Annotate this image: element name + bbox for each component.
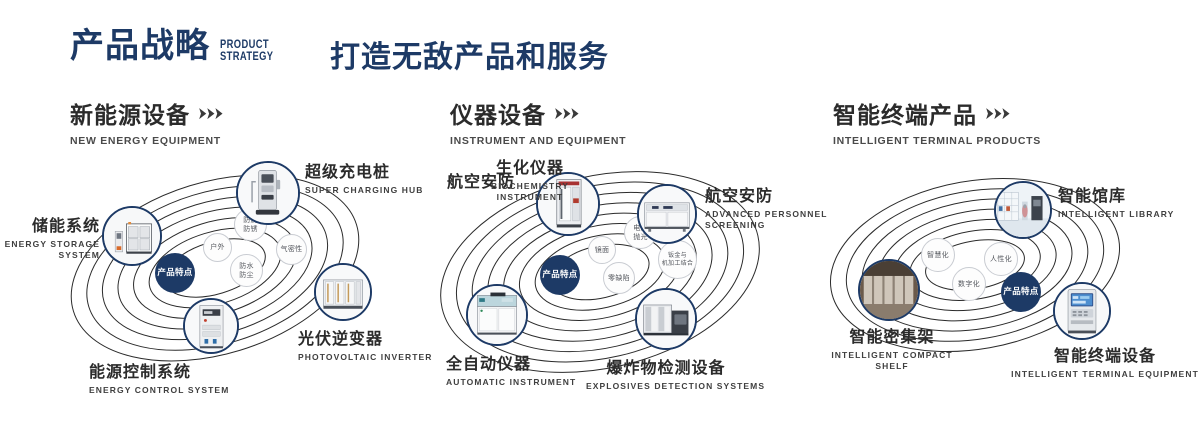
node-photovoltaic-inverter[interactable]	[314, 263, 372, 321]
brand-title: 产品战略 PRODUCT STRATEGY	[70, 26, 288, 66]
node-energy-control-system[interactable]	[183, 298, 239, 354]
node-advanced-personnel-screening[interactable]	[637, 184, 697, 244]
label-intelligent-compact-shelf: 智能密集架 INTELLIGENT COMPACT SHELF	[822, 323, 962, 371]
chevron-triple-icon: ➤➤➤	[554, 103, 578, 124]
feature-bubble-humanized: 人性化	[984, 242, 1018, 276]
energy-storage-icon	[104, 208, 160, 264]
label-automatic-instrument: 全自动仪器 AUTOMATIC INSTRUMENT	[446, 350, 576, 387]
explosives-detection-icon	[637, 290, 695, 348]
feature-bubble-label: 户外	[210, 243, 225, 252]
cluster-new-energy-equipment: 产品特点 户外 防腐 防锈 气密性 防水 防尘	[40, 150, 440, 380]
brand-title-en: PRODUCT STRATEGY	[220, 38, 273, 62]
section-heading-new-energy: 新能源设备➤➤➤ NEW ENERGY EQUIPMENT	[70, 96, 233, 147]
node-intelligent-compact-shelf[interactable]	[858, 259, 920, 321]
cluster-intelligent-terminal-products: 产品特点 智慧化 数字化 人性化	[800, 160, 1200, 395]
headline: 打造无敌产品和服务	[330, 32, 609, 76]
section-heading-cn: 新能源设备	[70, 96, 190, 130]
feature-bubble-label-line1: 钣金与	[662, 252, 694, 260]
label-en: INTELLIGENT TERMINAL EQUIPMENT	[1010, 369, 1200, 379]
automatic-instrument-icon	[468, 286, 526, 344]
label-intelligent-library: 智能馆库 INTELLIGENT LIBRARY	[1058, 182, 1174, 219]
feature-bubble-label: 镜面	[595, 246, 610, 255]
label-energy-storage: 储能系统 ENERGY STORAGE SYSTEM	[0, 212, 100, 260]
compact-shelf-icon	[860, 261, 918, 319]
feature-bubble-main-cn: 产品特点	[542, 270, 577, 280]
feature-bubble-smart: 智慧化	[921, 238, 955, 272]
feature-bubble-zerodefect: 零缺陷	[603, 262, 635, 294]
chevron-triple-icon: ➤➤➤	[198, 103, 222, 124]
screening-machine-icon	[639, 186, 695, 242]
label-energy-control-system: 能源控制系统 ENERGY CONTROL SYSTEM	[89, 358, 229, 395]
label-en-line1: BIOCHEMISTRY	[455, 181, 605, 191]
intelligent-library-icon	[996, 183, 1050, 237]
chevron-triple-icon: ➤➤➤	[985, 103, 1009, 124]
label-en: ENERGY CONTROL SYSTEM	[89, 385, 229, 395]
node-explosives-detection[interactable]	[635, 288, 697, 350]
feature-bubble-airtight: 气密性	[276, 234, 307, 265]
node-energy-storage[interactable]	[102, 206, 162, 266]
section-heading-terminal: 智能终端产品➤➤➤ INTELLIGENT TERMINAL PRODUCTS	[833, 96, 1041, 147]
feature-bubble-label: 气密性	[281, 245, 303, 254]
label-cn: 能源控制系统	[89, 358, 229, 382]
label-cn: 全自动仪器	[446, 350, 576, 374]
feature-bubble-label: 智慧化	[927, 251, 949, 260]
feature-bubble-outdoor: 户外	[203, 233, 232, 262]
section-heading-cn: 仪器设备	[450, 96, 546, 130]
label-en: AUTOMATIC INSTRUMENT	[446, 377, 576, 387]
feature-bubble-label-line2: 防尘	[239, 271, 254, 280]
section-heading-en: INSTRUMENT AND EQUIPMENT	[450, 135, 626, 147]
feature-bubble-waterproof: 防水 防尘	[230, 254, 263, 287]
feature-bubble-main-cn: 产品特点	[157, 268, 192, 278]
label-cn: 智能终端设备	[1010, 342, 1200, 366]
node-automatic-instrument[interactable]	[466, 284, 528, 346]
feature-bubble-main-cn: 产品特点	[1003, 287, 1038, 297]
node-super-charging-hub[interactable]	[236, 161, 300, 225]
charging-pile-icon	[238, 163, 298, 223]
brand-title-en-line2: STRATEGY	[220, 50, 273, 62]
label-cn: 智能馆库	[1058, 182, 1174, 206]
section-heading-en: INTELLIGENT TERMINAL PRODUCTS	[833, 135, 1041, 147]
label-cn: 爆炸物检测设备	[586, 354, 746, 378]
feature-bubble-sheetmetal: 钣金与 机加工结合	[658, 240, 697, 279]
feature-bubble-mirror: 镜面	[588, 236, 616, 264]
cluster-instrument-and-equipment: 产品特点 镜面 电解 抛光 钣金与 机加工结合 零缺陷 航空安防	[420, 150, 820, 390]
label-en-line2: INSTRUMENT	[455, 192, 605, 202]
label-biochemistry-instrument: 生化仪器 BIOCHEMISTRY INSTRUMENT	[455, 154, 605, 202]
feature-bubble-label-line2: 防锈	[243, 225, 258, 234]
product-strategy-infographic: 产品战略 PRODUCT STRATEGY 打造无敌产品和服务 新能源设备➤➤➤…	[0, 0, 1200, 422]
label-photovoltaic-inverter: 光伏逆变器 PHOTOVOLTAIC INVERTER	[298, 325, 433, 362]
feature-bubble-main: 产品特点	[1001, 272, 1041, 312]
feature-bubble-label: 人性化	[990, 255, 1012, 264]
feature-bubble-label: 数字化	[958, 280, 980, 289]
feature-bubble-label: 零缺陷	[608, 274, 630, 283]
feature-bubble-digital: 数字化	[952, 267, 986, 301]
node-intelligent-library[interactable]	[994, 181, 1052, 239]
label-en-line2: SYSTEM	[0, 250, 100, 260]
label-explosives-detection: 爆炸物检测设备 EXPLOSIVES DETECTION SYSTEMS	[586, 354, 746, 391]
label-en: EXPLOSIVES DETECTION SYSTEMS	[586, 381, 746, 391]
feature-bubble-main: 产品特点	[540, 255, 580, 295]
label-cn: 智能密集架	[822, 323, 962, 347]
feature-bubble-label-line2: 机加工结合	[662, 260, 694, 268]
label-en-line1: INTELLIGENT COMPACT	[822, 350, 962, 360]
label-en: PHOTOVOLTAIC INVERTER	[298, 352, 433, 362]
label-intelligent-terminal-equipment: 智能终端设备 INTELLIGENT TERMINAL EQUIPMENT	[1010, 342, 1200, 379]
node-intelligent-terminal-equipment[interactable]	[1053, 282, 1111, 340]
terminal-equipment-icon	[1055, 284, 1109, 338]
label-en-line2: SHELF	[822, 361, 962, 371]
section-heading-en: NEW ENERGY EQUIPMENT	[70, 135, 233, 147]
feature-bubble-main: 产品特点	[155, 253, 195, 293]
label-cn: 光伏逆变器	[298, 325, 433, 349]
label-cn: 储能系统	[0, 212, 100, 236]
brand-title-cn: 产品战略	[70, 26, 210, 66]
control-cabinet-icon	[185, 300, 237, 352]
label-cn: 生化仪器	[455, 154, 605, 178]
label-en: INTELLIGENT LIBRARY	[1058, 209, 1174, 219]
section-heading-cn: 智能终端产品	[833, 96, 977, 130]
section-heading-instrument: 仪器设备➤➤➤ INSTRUMENT AND EQUIPMENT	[450, 96, 626, 147]
feature-bubble-label-line1: 防水	[239, 262, 254, 271]
inverter-icon	[316, 265, 370, 319]
label-en-line1: ENERGY STORAGE	[0, 239, 100, 249]
